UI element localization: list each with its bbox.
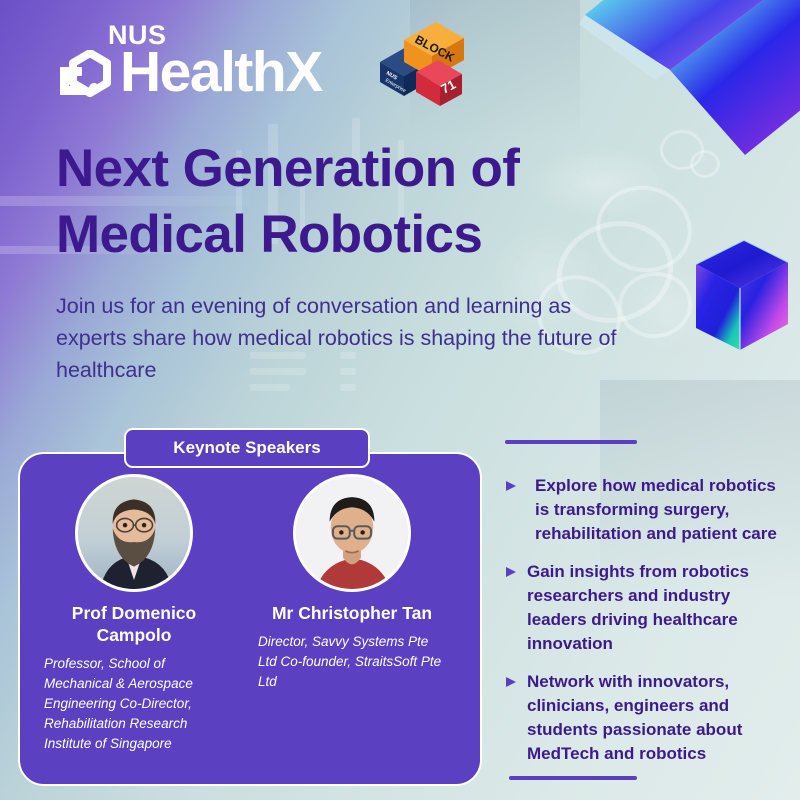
list-item: Gain insights from robotics researchers … [505,560,790,656]
speaker-card: Prof Domenico Campolo Professor, School … [18,452,482,786]
highlights-list: Explore how medical robotics is transfor… [505,440,790,780]
triangle-bullet-icon [505,480,517,492]
list-item: Network with innovators, clinicians, eng… [505,670,790,766]
highlight-text: Gain insights from robotics researchers … [527,560,790,656]
speaker-role: Professor, School of Mechanical & Aerosp… [30,654,238,754]
subtitle-text: Join us for an evening of conversation a… [56,290,646,386]
healthx-shield-mark-icon [60,50,116,102]
highlight-text: Network with innovators, clinicians, eng… [527,670,790,766]
speaker-portrait-domenico-campolo [75,474,193,592]
speaker-entry: Prof Domenico Campolo Professor, School … [30,474,238,754]
background-ring-decor [660,130,704,170]
iridescent-cube-decor [688,232,794,360]
speaker-role: Director, Savvy Systems Pte Ltd Co-found… [248,632,456,692]
page-title: Next Generation of Medical Robotics [56,136,656,268]
speaker-name: Mr Christopher Tan [248,602,456,624]
divider-top [505,440,637,444]
headline-line-1: Next Generation of [56,136,656,202]
list-item: Explore how medical robotics is transfor… [505,474,790,546]
triangle-bullet-icon [505,566,517,578]
headline-line-2: Medical Robotics [56,202,656,268]
speaker-name: Prof Domenico Campolo [30,602,238,646]
block71-logo-icon: NUS Enterprise BLOCK 71 [374,18,470,118]
background-ring-decor [690,150,720,178]
highlight-text: Explore how medical robotics is transfor… [527,474,790,546]
keynote-badge-label: Keynote Speakers [173,438,320,458]
divider-bottom [509,776,637,780]
speaker-entry: Mr Christopher Tan Director, Savvy Syste… [248,474,456,692]
nus-healthx-logo: NUS HealthX [58,22,358,104]
keynote-speakers-badge: Keynote Speakers [124,428,370,468]
event-poster: NUS HealthX NUS Enterprise BLOCK [0,0,800,800]
healthx-wordmark: HealthX [120,42,322,102]
triangle-bullet-icon [505,676,517,688]
speaker-portrait-christopher-tan [293,474,411,592]
logo-row: NUS HealthX NUS Enterprise BLOCK [0,0,800,120]
